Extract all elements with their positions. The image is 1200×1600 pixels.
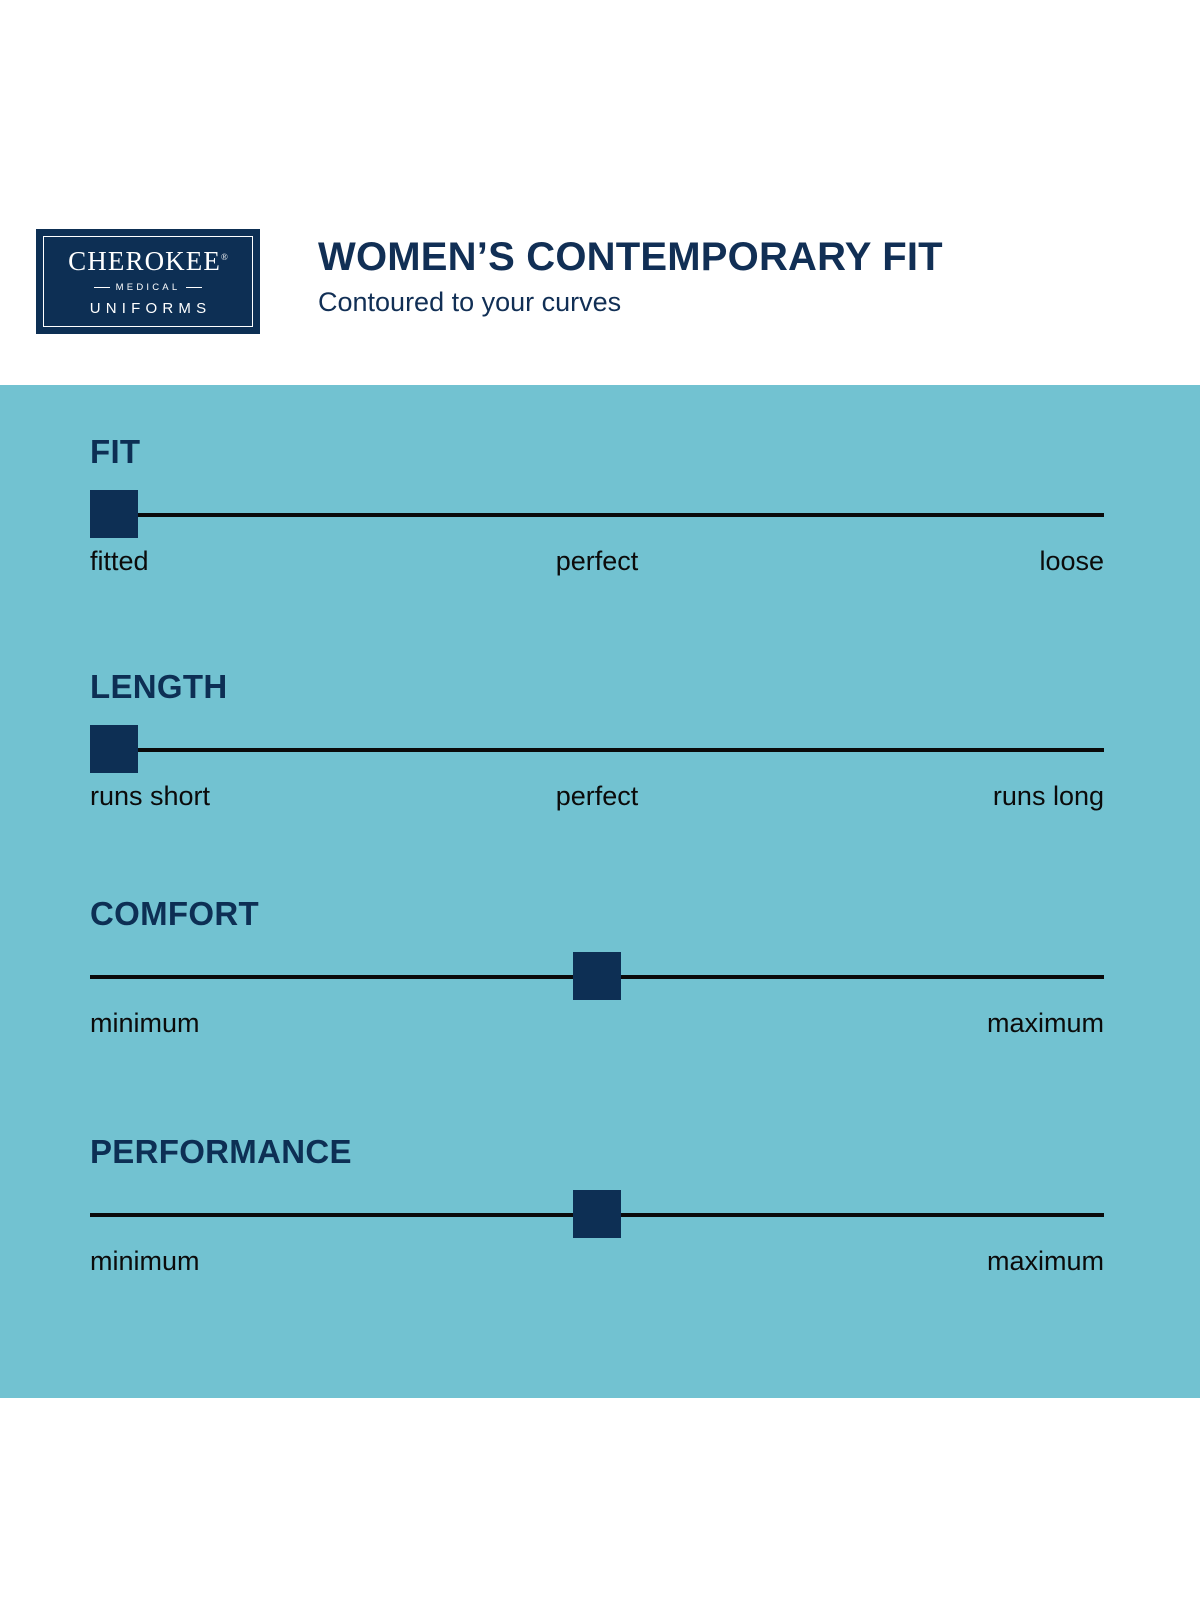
page-subtitle: Contoured to your curves bbox=[318, 288, 943, 318]
meter-fit-scale-labels: fitted perfect loose bbox=[90, 545, 1104, 581]
meter-fit-label-right: loose bbox=[1039, 545, 1104, 579]
registered-trademark-icon: ® bbox=[221, 252, 228, 262]
meter-comfort-track[interactable] bbox=[90, 952, 1104, 1002]
header-band: CHEROKEE® MEDICAL UNIFORMS WOMEN’S CONTE… bbox=[0, 0, 1200, 385]
meter-performance-label-right: maximum bbox=[987, 1245, 1104, 1279]
meter-fit-marker[interactable] bbox=[90, 490, 138, 538]
meter-comfort: COMFORT minimum maximum bbox=[90, 897, 1104, 1043]
logo-uniforms-text: UNIFORMS bbox=[85, 300, 212, 317]
meter-length-scale-labels: runs short perfect runs long bbox=[90, 780, 1104, 816]
meter-length-marker[interactable] bbox=[90, 725, 138, 773]
logo-medical-text: MEDICAL bbox=[116, 282, 181, 293]
meter-performance-title: PERFORMANCE bbox=[90, 1135, 1104, 1168]
meter-fit-title: FIT bbox=[90, 435, 1104, 468]
meter-fit-track[interactable] bbox=[90, 490, 1104, 540]
meter-length-title: LENGTH bbox=[90, 670, 1104, 703]
meter-fit-label-mid: perfect bbox=[556, 545, 639, 579]
meter-length-track-line bbox=[138, 748, 1104, 752]
logo-rule-left-icon bbox=[94, 287, 110, 288]
meter-fit-label-left: fitted bbox=[90, 545, 149, 579]
meter-comfort-scale-labels: minimum maximum bbox=[90, 1007, 1104, 1043]
meter-comfort-marker[interactable] bbox=[573, 952, 621, 1000]
fit-meters-panel: FIT fitted perfect loose LENGTH runs sho… bbox=[0, 385, 1200, 1398]
meter-fit-track-line bbox=[138, 513, 1104, 517]
meter-length-track[interactable] bbox=[90, 725, 1104, 775]
meter-performance: PERFORMANCE minimum maximum bbox=[90, 1135, 1104, 1281]
meter-comfort-label-right: maximum bbox=[987, 1007, 1104, 1041]
cherokee-logo: CHEROKEE® MEDICAL UNIFORMS bbox=[36, 229, 260, 334]
meter-length-label-mid: perfect bbox=[556, 780, 639, 814]
meter-performance-scale-labels: minimum maximum bbox=[90, 1245, 1104, 1281]
title-block: WOMEN’S CONTEMPORARY FIT Contoured to yo… bbox=[318, 236, 943, 318]
logo-inner-frame: CHEROKEE® MEDICAL UNIFORMS bbox=[43, 236, 253, 327]
logo-rule-right-icon bbox=[186, 287, 202, 288]
logo-brand-text: CHEROKEE® bbox=[68, 248, 228, 275]
meter-length-label-left: runs short bbox=[90, 780, 210, 814]
meter-performance-marker[interactable] bbox=[573, 1190, 621, 1238]
page-title: WOMEN’S CONTEMPORARY FIT bbox=[318, 236, 943, 278]
meter-fit: FIT fitted perfect loose bbox=[90, 435, 1104, 581]
meter-performance-label-left: minimum bbox=[90, 1245, 200, 1279]
meter-performance-track[interactable] bbox=[90, 1190, 1104, 1240]
meter-length: LENGTH runs short perfect runs long bbox=[90, 670, 1104, 816]
meter-length-label-right: runs long bbox=[993, 780, 1104, 814]
meter-comfort-title: COMFORT bbox=[90, 897, 1104, 930]
logo-medical-line: MEDICAL bbox=[94, 282, 203, 293]
logo-brand-word: CHEROKEE bbox=[68, 246, 221, 276]
meter-comfort-label-left: minimum bbox=[90, 1007, 200, 1041]
